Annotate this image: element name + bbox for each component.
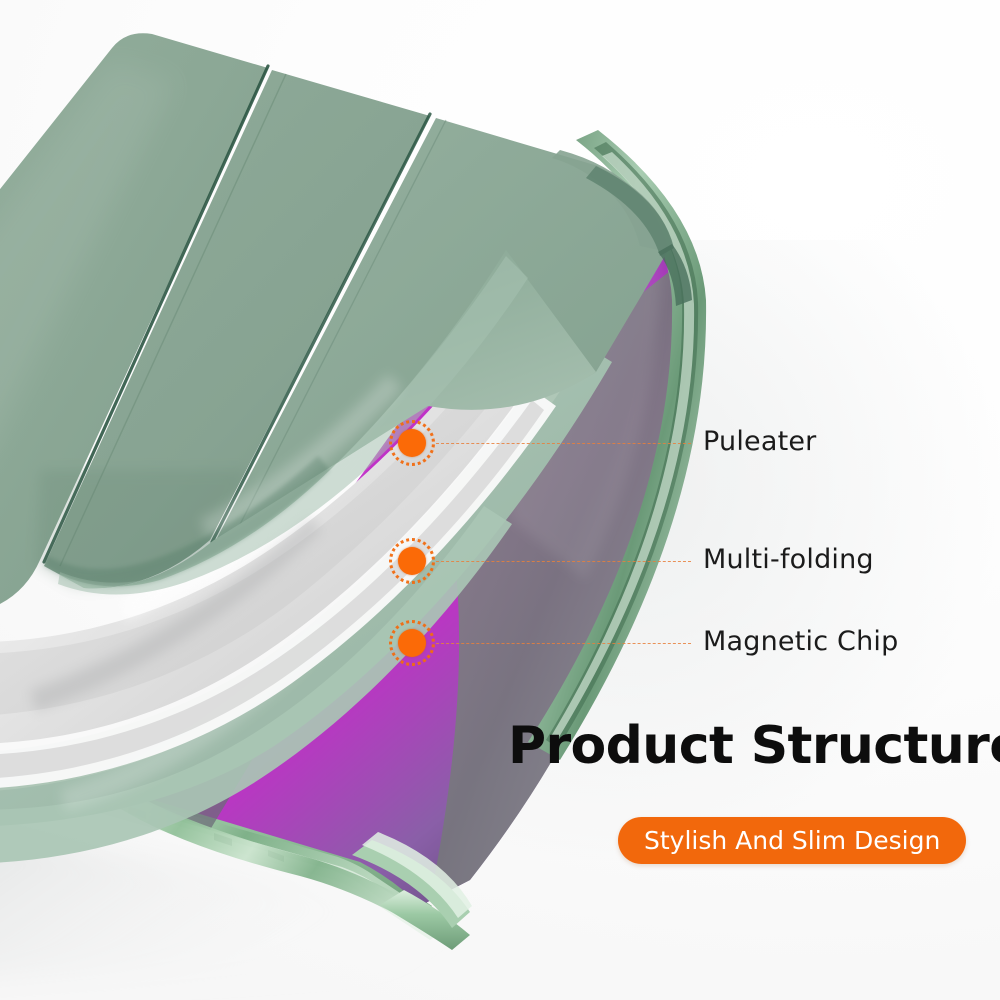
leader-line-3 xyxy=(436,643,691,644)
callout-marker-2[interactable] xyxy=(389,538,435,584)
page-title: Product Structure xyxy=(508,716,1000,776)
tagline-badge: Stylish And Slim Design xyxy=(618,817,966,864)
callout-label-multi-folding: Multi-folding xyxy=(703,544,874,575)
leader-line-2 xyxy=(436,561,691,562)
marker-dot-icon xyxy=(398,429,426,457)
infographic-canvas: Puleater Multi-folding Magnetic Chip Pro… xyxy=(0,0,1000,1000)
callout-label-puleater: Puleater xyxy=(703,426,816,457)
callout-label-magnetic-chip: Magnetic Chip xyxy=(703,626,898,657)
callout-marker-3[interactable] xyxy=(389,620,435,666)
callout-marker-1[interactable] xyxy=(389,420,435,466)
marker-dot-icon xyxy=(398,629,426,657)
leader-line-1 xyxy=(436,443,691,444)
marker-dot-icon xyxy=(398,547,426,575)
